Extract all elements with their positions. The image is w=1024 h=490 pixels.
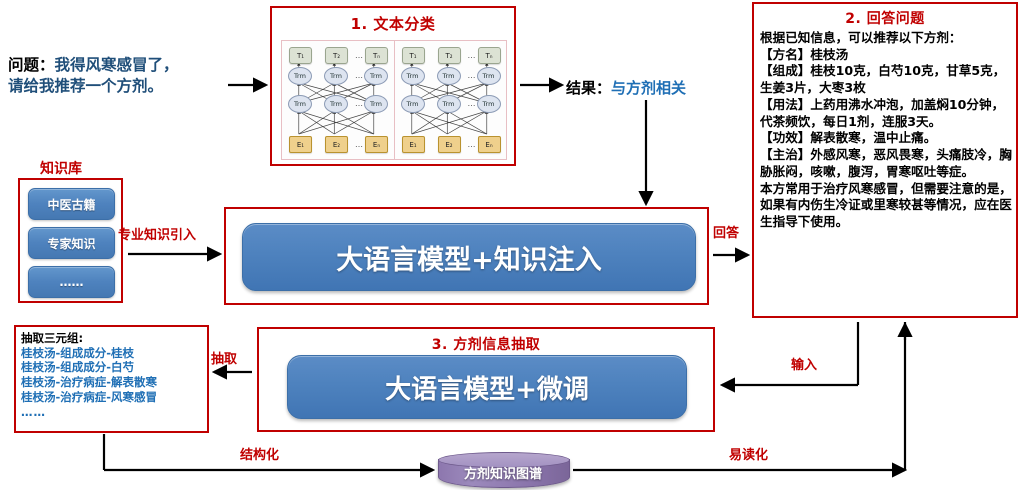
embedding-e1: E₁ xyxy=(402,136,425,153)
section1-title: 1. 文本分类 xyxy=(272,13,514,34)
knowledge-base-label: 知识库 xyxy=(40,158,82,178)
section-formula-extraction: 3. 方剂信息抽取 大语言模型+微调 xyxy=(257,327,715,432)
token-t2: T₂ xyxy=(325,47,348,64)
trm-cell: Trm xyxy=(288,95,312,113)
knowledge-graph-label: 方剂知识图谱 xyxy=(438,463,568,482)
token-t1: T₁ xyxy=(289,47,312,64)
section3-title: 3. 方剂信息抽取 xyxy=(259,334,713,354)
transformer-block-left: T₁ T₂ … Tₙ Trm Trm … Trm Trm Trm … Trm E… xyxy=(282,41,395,159)
kb-item-expert-knowledge[interactable]: 专家知识 xyxy=(28,227,115,259)
embedding-en: Eₙ xyxy=(478,136,501,153)
extracted-triples-container: 抽取三元组: 桂枝汤-组成成分-桂枝 桂枝汤-组成成分-白芍 桂枝汤-治疗病症-… xyxy=(14,325,209,433)
section-llm-knowledge-injection: 大语言模型+知识注入 xyxy=(224,207,709,305)
arrow-label-extract: 抽取 xyxy=(211,348,237,367)
trm-cell: Trm xyxy=(288,67,312,85)
token-tn: Tₙ xyxy=(365,47,388,64)
knowledge-base-container: 中医古籍 专家知识 …… xyxy=(18,178,123,303)
arrow-label-structured: 结构化 xyxy=(240,444,279,463)
embedding-e2: E₂ xyxy=(438,136,461,153)
trm-cell: Trm xyxy=(364,67,388,85)
trm-cell: Trm xyxy=(401,67,425,85)
llm-knowledge-injection-box[interactable]: 大语言模型+知识注入 xyxy=(242,223,696,291)
trm-cell: Trm xyxy=(324,95,348,113)
embedding-e1: E₁ xyxy=(289,136,312,153)
classification-result: 结果：与方剂相关 xyxy=(566,77,686,98)
transformer-block-right: T₁ T₂ … Tₙ Trm Trm … Trm Trm Trm … Trm E… xyxy=(395,41,507,159)
result-lead-label: 结果： xyxy=(566,79,611,97)
trm-cell: Trm xyxy=(401,95,425,113)
transformer-network-diagram: T₁ T₂ … Tₙ Trm Trm … Trm Trm Trm … Trm E… xyxy=(281,40,507,160)
triple-row: 桂枝汤-治疗病症-风寒感冒 xyxy=(21,390,202,405)
trm-cell: Trm xyxy=(437,95,461,113)
trm-cell: Trm xyxy=(477,67,501,85)
question-line-2: 请给我推荐一个方剂。 xyxy=(8,77,163,95)
arrow-label-readable: 易读化 xyxy=(729,444,768,463)
token-ellipsis: … xyxy=(465,49,479,61)
triple-row: 桂枝汤-组成成分-白芍 xyxy=(21,360,202,375)
arrow-label-knowledge-injection: 专业知识引入 xyxy=(118,224,196,243)
token-t2: T₂ xyxy=(438,47,461,64)
section-text-classification: 1. 文本分类 T₁ T₂ xyxy=(270,6,516,166)
question-lead-label: 问题： xyxy=(8,56,55,74)
trm-cell: Trm xyxy=(477,95,501,113)
answer-body-text: 根据已知信息，可以推荐以下方剂： 【方名】桂枝汤 【组成】桂枝10克，白芍10克… xyxy=(760,30,1014,231)
trm-cell: Trm xyxy=(364,95,388,113)
embedding-e2: E₂ xyxy=(325,136,348,153)
llm-finetune-box[interactable]: 大语言模型+微调 xyxy=(287,355,687,419)
arrow-label-input: 输入 xyxy=(791,354,817,373)
section2-title: 2. 回答问题 xyxy=(754,8,1016,28)
embedding-en: Eₙ xyxy=(365,136,388,153)
trm-cell: Trm xyxy=(324,67,348,85)
result-value: 与方剂相关 xyxy=(611,79,686,97)
token-ellipsis: … xyxy=(352,49,366,61)
arrow-label-answer: 回答 xyxy=(713,222,739,241)
embedding-ellipsis: … xyxy=(465,138,479,150)
triples-heading: 抽取三元组: xyxy=(21,331,202,346)
token-t1: T₁ xyxy=(402,47,425,64)
triples-ellipsis: …… xyxy=(21,405,202,420)
trm-cell: Trm xyxy=(437,67,461,85)
kb-item-ancient-texts[interactable]: 中医古籍 xyxy=(28,188,115,220)
triple-row: 桂枝汤-组成成分-桂枝 xyxy=(21,346,202,361)
token-tn: Tₙ xyxy=(478,47,501,64)
section-answer: 2. 回答问题 根据已知信息，可以推荐以下方剂： 【方名】桂枝汤 【组成】桂枝1… xyxy=(752,2,1018,318)
kb-item-more[interactable]: …… xyxy=(28,266,115,298)
question-text: 问题：我得风寒感冒了， 请给我推荐一个方剂。 xyxy=(8,55,223,97)
question-line-1: 我得风寒感冒了， xyxy=(55,56,179,74)
triple-row: 桂枝汤-治疗病症-解表散寒 xyxy=(21,375,202,390)
embedding-ellipsis: … xyxy=(352,138,366,150)
knowledge-graph-database[interactable]: 方剂知识图谱 xyxy=(438,452,568,488)
